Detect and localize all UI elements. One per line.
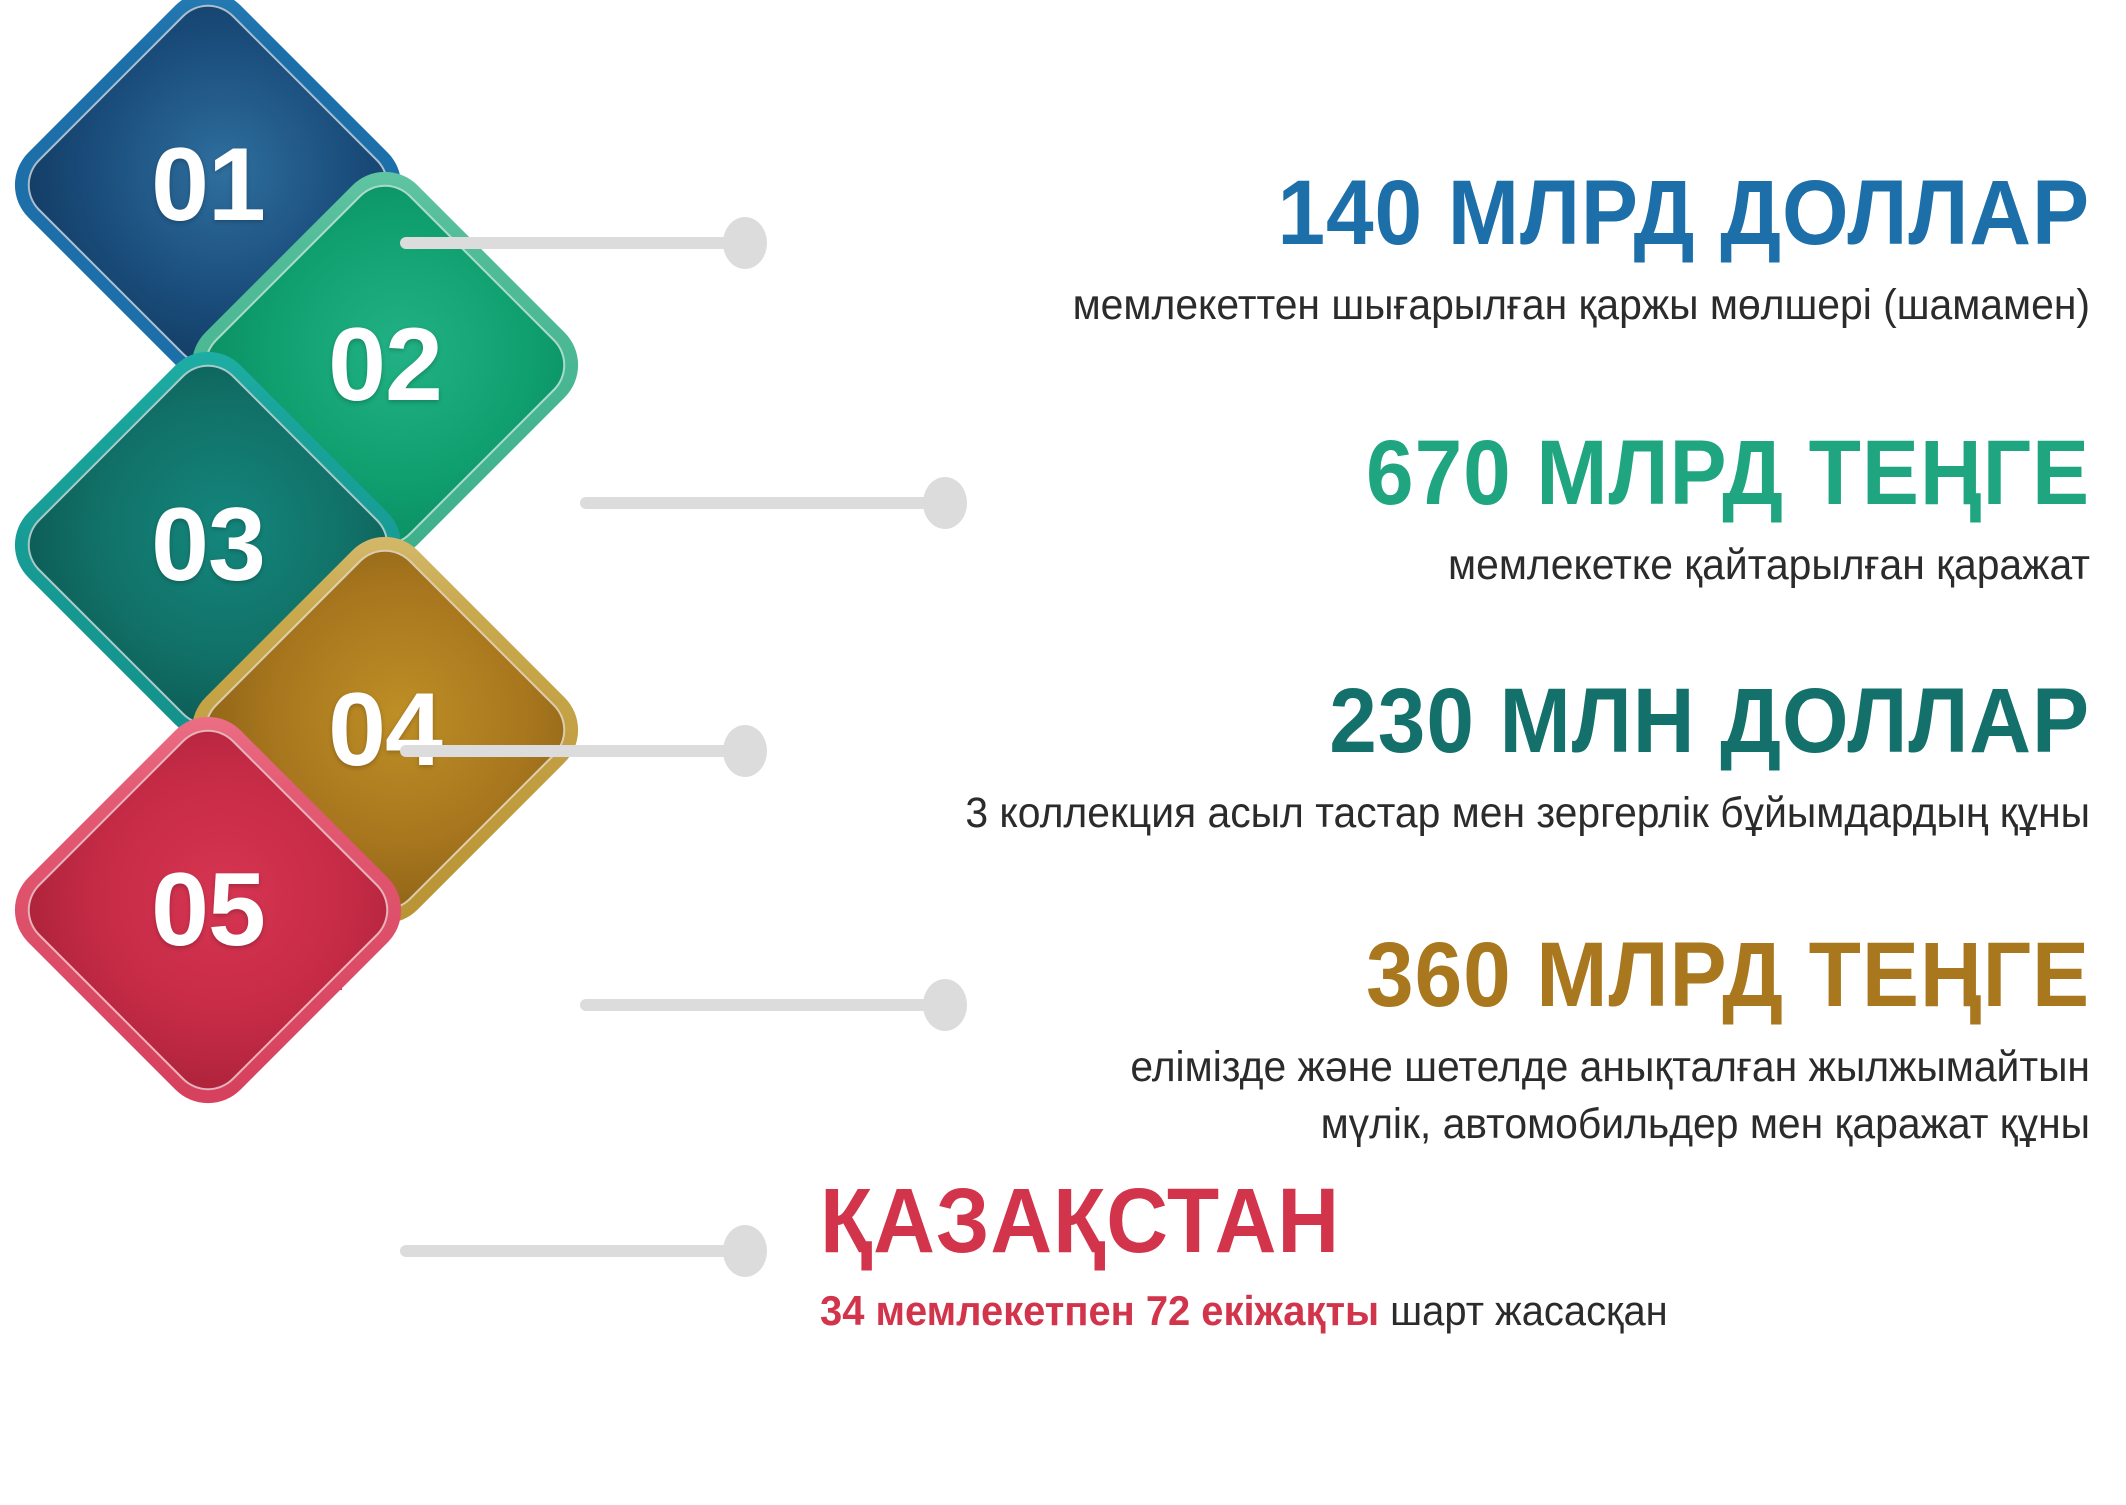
step-headline-02: 670 МЛРД ТЕҢГЕ [928, 430, 2091, 516]
step-text-02: 670 МЛРД ТЕҢГЕ мемлекетке қайтарылған қа… [840, 430, 2090, 591]
step-subtitle-05-rest: шарт жасасқан [1379, 1287, 1668, 1334]
step-text-01: 140 МЛРД ДОЛЛАР мемлекеттен шығарылған қ… [840, 170, 2090, 331]
step-headline-03: 230 МЛН ДОЛЛАР [835, 678, 2091, 764]
leader-line-03 [400, 745, 750, 757]
step-subtitle-05-strong: 34 мемлекетпен 72 екіжақты [820, 1287, 1379, 1334]
step-text-03: 230 МЛН ДОЛЛАР 3 коллекция асыл тастар м… [740, 678, 2090, 839]
step-headline-04: 360 МЛРД ТЕҢГЕ [928, 932, 2091, 1018]
leader-line-05 [400, 1245, 750, 1257]
step-subtitle-02: мемлекетке қайтарылған қаражат [903, 540, 2091, 591]
step-subtitle-04-line1: елімізде және шетелде анықталған жылжыма… [903, 1042, 2091, 1093]
step-badge-05[interactable]: 05 [0, 698, 420, 1122]
step-number-05: 05 [58, 760, 358, 1060]
step-subtitle-03: 3 коллекция асыл тастар мен зергерлік бұ… [808, 788, 2091, 839]
step-text-05: ҚАЗАҚСТАН 34 мемлекетпен 72 екіжақты шар… [820, 1178, 2100, 1336]
step-text-04: 360 МЛРД ТЕҢГЕ елімізде және шетелде аны… [840, 932, 2090, 1150]
step-subtitle-05: 34 мемлекетпен 72 екіжақты шарт жасасқан [820, 1286, 2036, 1336]
infographic-canvas: 01 02 03 04 05 140 МЛРД ДОЛЛАР мемлекетт… [0, 0, 2126, 1505]
leader-line-01 [400, 237, 750, 249]
leader-dot-05 [723, 1225, 767, 1277]
step-subtitle-04-line2: мүлік, автомобильдер мен қаражат құны [903, 1099, 2091, 1150]
leader-dot-01 [723, 217, 767, 269]
step-subtitle-01: мемлекеттен шығарылған қаржы мөлшері (ша… [903, 280, 2091, 331]
step-headline-05: ҚАЗАҚСТАН [820, 1178, 2010, 1264]
step-headline-01: 140 МЛРД ДОЛЛАР [928, 170, 2091, 256]
